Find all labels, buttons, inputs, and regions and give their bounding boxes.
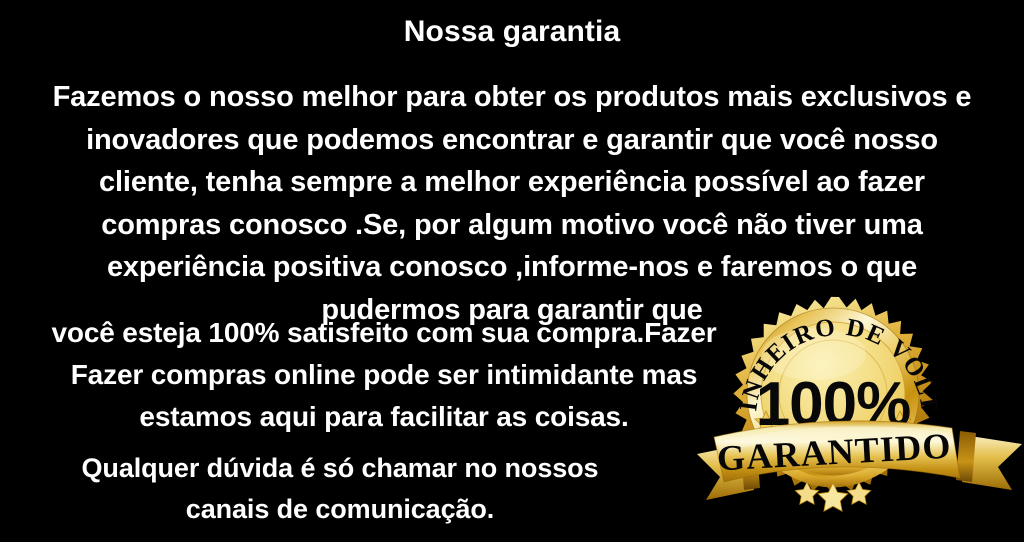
- paragraph-line: inovadores que podemos encontrar e garan…: [8, 119, 1016, 162]
- paragraph-line: Fazer compras online pode ser intimidant…: [4, 354, 764, 396]
- paragraph-line: compras conosco .Se, por algum motivo vo…: [8, 204, 1016, 247]
- page-title: Nossa garantia: [0, 13, 1024, 51]
- paragraph-line: cliente, tenha sempre a melhor experiênc…: [8, 161, 1016, 204]
- guarantee-middle-paragraph: você esteja 100% satisfeito com sua comp…: [4, 312, 764, 438]
- guarantee-banner: Nossa garantia Fazemos o nosso melhor pa…: [0, 0, 1024, 542]
- paragraph-line: experiência positiva conosco ,informe-no…: [8, 246, 1016, 289]
- paragraph-line: Fazemos o nosso melhor para obter os pro…: [8, 76, 1016, 119]
- paragraph-line: canais de comunicação.: [10, 489, 670, 530]
- paragraph-line: estamos aqui para facilitar as coisas.: [4, 396, 764, 438]
- paragraph-line: Qualquer dúvida é só chamar no nossos: [10, 448, 670, 489]
- guarantee-contact-paragraph: Qualquer dúvida é só chamar no nossos ca…: [10, 448, 670, 530]
- badge-ribbon-star: [818, 483, 848, 511]
- money-back-guarantee-badge: DINHEIRO DE VOLTA 100%: [694, 292, 1024, 542]
- paragraph-line: você esteja 100% satisfeito com sua comp…: [4, 312, 764, 354]
